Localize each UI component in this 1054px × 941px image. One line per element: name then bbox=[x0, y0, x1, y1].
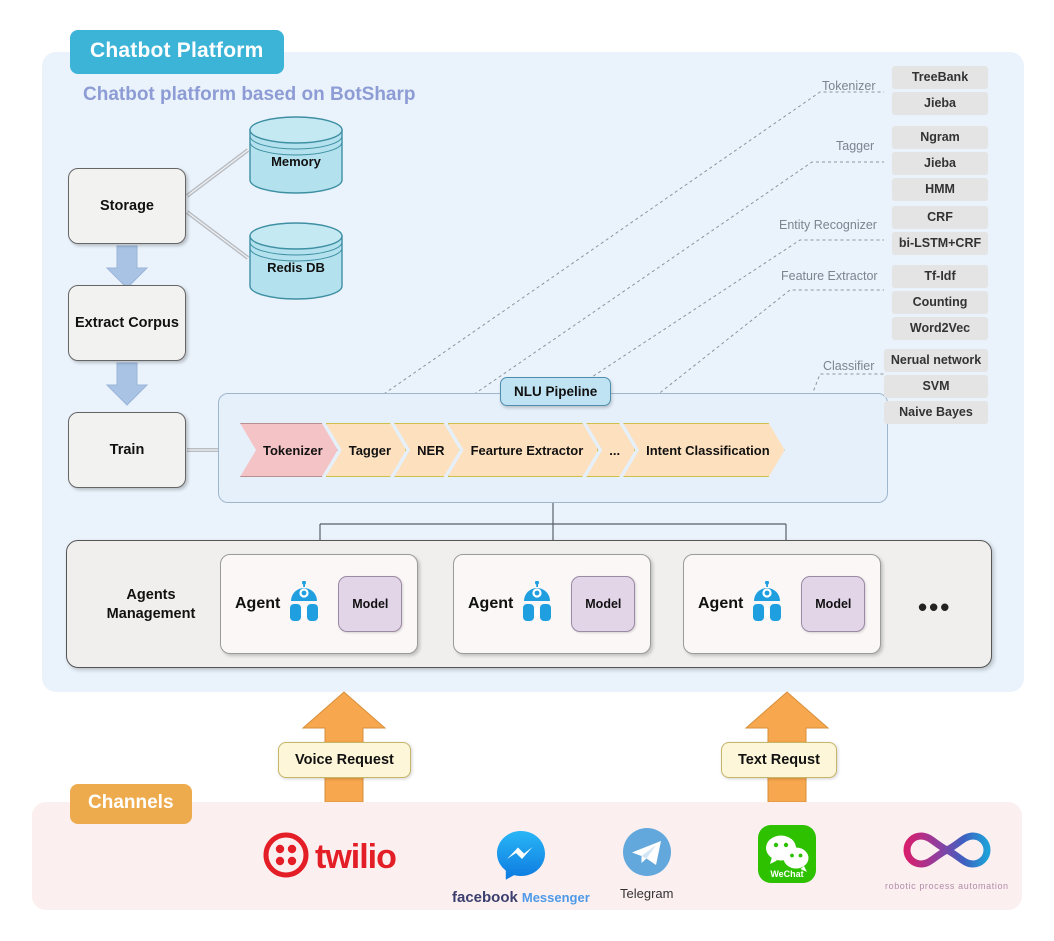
connector-label-classifier: Classifier bbox=[823, 359, 874, 373]
agent-card[interactable]: Agent Model bbox=[220, 554, 418, 654]
platform-subtitle: Chatbot platform based on BotSharp bbox=[83, 84, 416, 106]
svg-text:WeChat: WeChat bbox=[770, 869, 803, 879]
channel-telegram[interactable]: Telegram bbox=[620, 826, 673, 901]
tokenizer-options: TreeBank Jieba bbox=[892, 66, 988, 118]
messenger-icon bbox=[494, 828, 548, 887]
entity-recognizer-options: CRF bi-LSTM+CRF bbox=[892, 206, 988, 258]
redis-cylinder[interactable]: Redis DB bbox=[248, 220, 344, 302]
feature-extractor-options: Tf-Idf Counting Word2Vec bbox=[892, 265, 988, 343]
agent-card[interactable]: Agent Model bbox=[683, 554, 881, 654]
nlu-stage-tagger[interactable]: Tagger bbox=[326, 423, 406, 477]
cylinder-label: Memory bbox=[271, 154, 321, 169]
rpa-wordmark: robotic process automation bbox=[885, 881, 1009, 891]
agent-label: Agent bbox=[235, 595, 280, 613]
option-pill[interactable]: Nerual network bbox=[884, 349, 988, 372]
connector-label-entity-recognizer: Entity Recognizer bbox=[779, 218, 877, 232]
option-pill[interactable]: TreeBank bbox=[892, 66, 988, 89]
nlu-stage-tokenizer[interactable]: Tokenizer bbox=[240, 423, 338, 477]
nlu-stage-list: Tokenizer Tagger NER Fearture Extractor … bbox=[240, 423, 773, 477]
channels-title-badge: Channels bbox=[70, 784, 192, 824]
agents-management-title: Agents Management bbox=[86, 586, 216, 624]
facebook-word: facebook bbox=[452, 889, 518, 906]
agent-label: Agent bbox=[468, 595, 513, 613]
telegram-label: Telegram bbox=[620, 886, 673, 901]
classifier-options: Nerual network SVM Naive Bayes bbox=[884, 349, 988, 427]
robot-icon bbox=[749, 581, 787, 628]
option-pill[interactable]: Jieba bbox=[892, 92, 988, 115]
nlu-stage-feature-extractor[interactable]: Fearture Extractor bbox=[448, 423, 599, 477]
telegram-icon bbox=[621, 826, 673, 883]
agent-card[interactable]: Agent Model bbox=[453, 554, 651, 654]
agents-title-line2: Management bbox=[86, 605, 216, 624]
storage-box[interactable]: Storage bbox=[68, 168, 186, 244]
wechat-icon: WeChat bbox=[758, 825, 816, 888]
memory-cylinder[interactable]: Memory bbox=[248, 114, 344, 196]
option-pill[interactable]: HMM bbox=[892, 178, 988, 201]
option-pill[interactable]: Naive Bayes bbox=[884, 401, 988, 424]
connector-label-feature-extractor: Feature Extractor bbox=[781, 269, 878, 283]
option-pill[interactable]: Word2Vec bbox=[892, 317, 988, 340]
model-box[interactable]: Model bbox=[801, 576, 865, 632]
train-box[interactable]: Train bbox=[68, 412, 186, 488]
option-pill[interactable]: Tf-Idf bbox=[892, 265, 988, 288]
option-pill[interactable]: Counting bbox=[892, 291, 988, 314]
option-pill[interactable]: Ngram bbox=[892, 126, 988, 149]
messenger-word: Messenger bbox=[522, 890, 590, 905]
voice-request-tag: Voice Request bbox=[278, 742, 411, 778]
nlu-pipeline-label: NLU Pipeline bbox=[500, 377, 611, 406]
option-pill[interactable]: CRF bbox=[892, 206, 988, 229]
rpa-infinity-icon bbox=[897, 828, 997, 879]
model-box[interactable]: Model bbox=[571, 576, 635, 632]
agent-label: Agent bbox=[698, 595, 743, 613]
model-box[interactable]: Model bbox=[338, 576, 402, 632]
channel-twilio[interactable]: twilio bbox=[263, 832, 396, 883]
twilio-wordmark: twilio bbox=[315, 838, 396, 877]
extract-corpus-box[interactable]: Extract Corpus bbox=[68, 285, 186, 361]
twilio-icon bbox=[263, 832, 309, 883]
robot-icon bbox=[286, 581, 324, 628]
cylinder-label: Redis DB bbox=[267, 260, 325, 275]
robot-icon bbox=[519, 581, 557, 628]
option-pill[interactable]: Jieba bbox=[892, 152, 988, 175]
nlu-stage-intent-classification[interactable]: Intent Classification bbox=[623, 423, 785, 477]
option-pill[interactable]: bi-LSTM+CRF bbox=[892, 232, 988, 255]
tagger-options: Ngram Jieba HMM bbox=[892, 126, 988, 204]
channel-facebook-messenger[interactable]: facebook Messenger bbox=[452, 828, 590, 906]
channel-wechat[interactable]: WeChat bbox=[758, 825, 816, 888]
messenger-wordmark: facebook Messenger bbox=[452, 889, 590, 906]
agents-overflow-ellipsis: ••• bbox=[918, 592, 951, 623]
connector-label-tagger: Tagger bbox=[836, 139, 874, 153]
agents-title-line1: Agents bbox=[86, 586, 216, 605]
connector-label-tokenizer: Tokenizer bbox=[822, 79, 876, 93]
text-request-tag: Text Requst bbox=[721, 742, 837, 778]
platform-title-badge: Chatbot Platform bbox=[70, 30, 284, 74]
channel-rpa[interactable]: robotic process automation bbox=[885, 828, 1009, 891]
diagram-canvas: Chatbot Platform Chatbot platform based … bbox=[0, 0, 1054, 941]
option-pill[interactable]: SVM bbox=[884, 375, 988, 398]
